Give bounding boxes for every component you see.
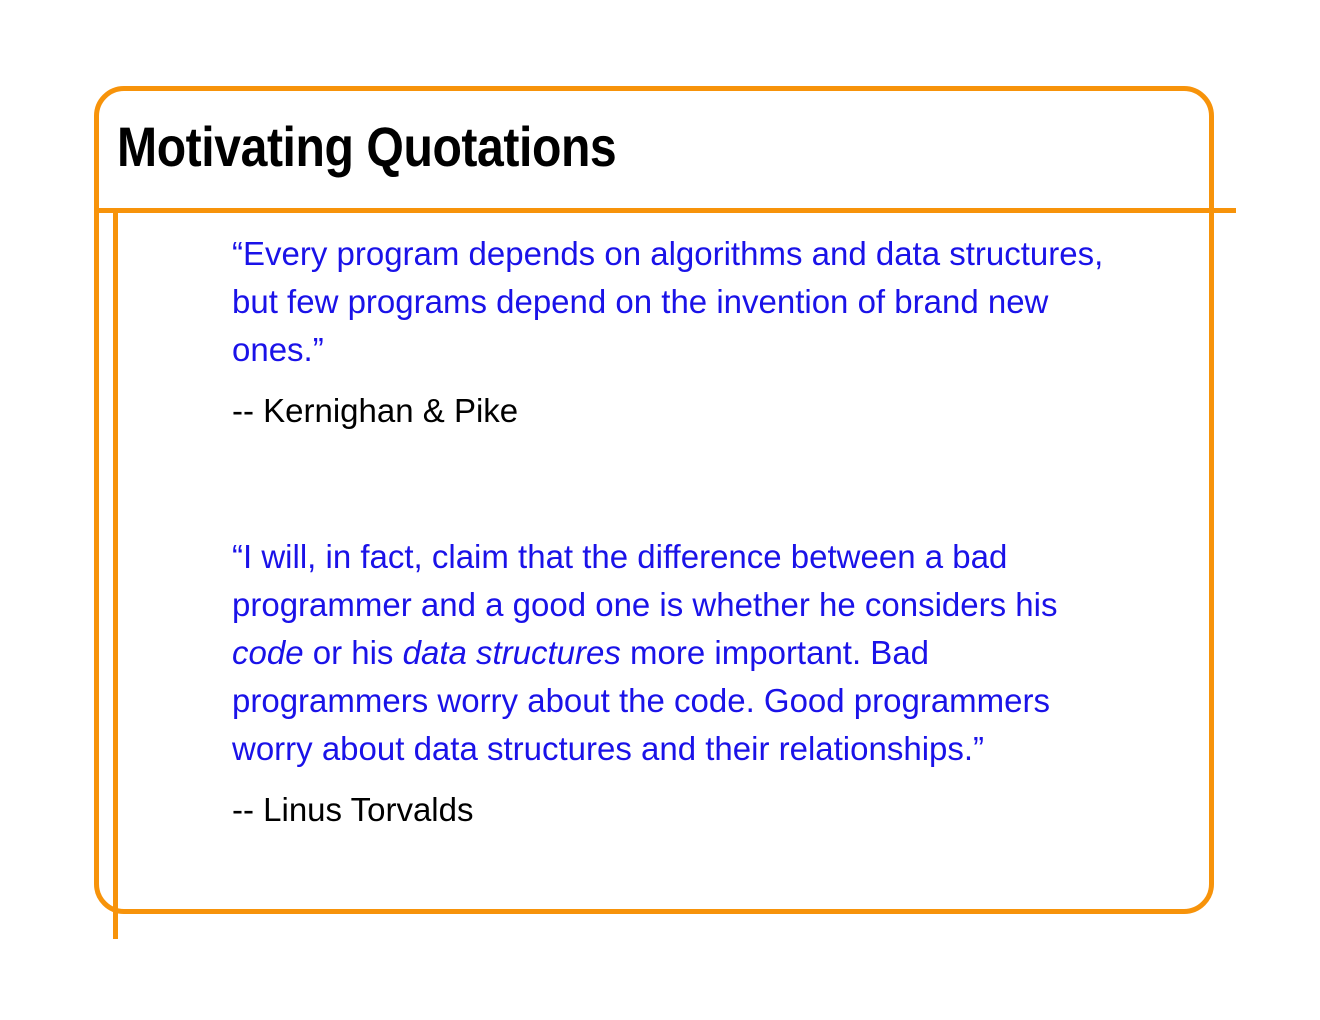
quote-attribution-1: -- Kernighan & Pike bbox=[232, 387, 1132, 435]
quote-block-1: “Every program depends on algorithms and… bbox=[232, 230, 1132, 435]
quote-text-1: “Every program depends on algorithms and… bbox=[232, 230, 1132, 374]
body-vertical-rule bbox=[113, 208, 118, 939]
quote-block-2: “I will, in fact, claim that the differe… bbox=[232, 533, 1132, 834]
quote-emphasis-data-structures: data structures bbox=[403, 634, 621, 671]
slide-canvas: Motivating Quotations “Every program dep… bbox=[0, 0, 1320, 1020]
spacer bbox=[232, 773, 1132, 786]
quote-emphasis-code: code bbox=[232, 634, 304, 671]
slide-body: “Every program depends on algorithms and… bbox=[232, 230, 1132, 834]
spacer bbox=[232, 374, 1132, 387]
quote-segment-a: “I will, in fact, claim that the differe… bbox=[232, 538, 1067, 623]
quote-text-2: “I will, in fact, claim that the differe… bbox=[232, 533, 1132, 773]
title-divider-rule bbox=[94, 208, 1236, 213]
quote-attribution-2: -- Linus Torvalds bbox=[232, 786, 1132, 834]
page-title: Motivating Quotations bbox=[117, 118, 977, 177]
quote-segment-b: or his bbox=[304, 634, 403, 671]
block-spacer bbox=[232, 435, 1132, 533]
